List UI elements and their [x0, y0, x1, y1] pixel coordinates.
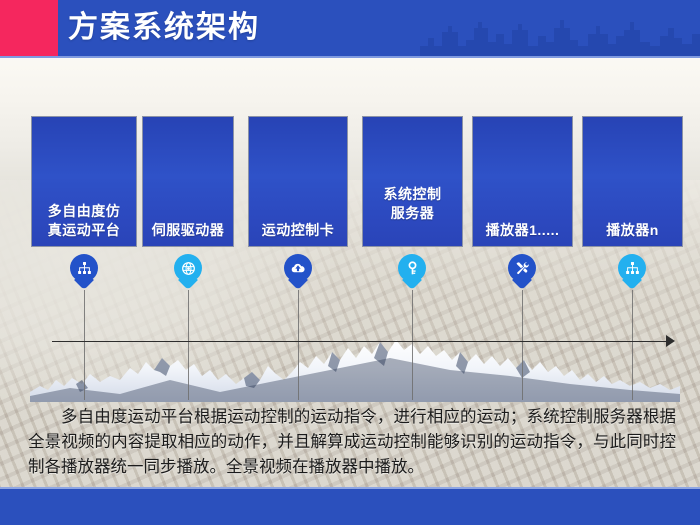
cloud-upload-icon	[284, 254, 312, 282]
caption-paragraph: 多自由度运动平台根据运动控制的运动指令，进行相应的运动；系统控制服务器根据全景视…	[28, 404, 676, 479]
node-box-2[interactable]: 伺服驱动器	[142, 116, 234, 247]
node-box-4[interactable]: 系统控制 服务器	[362, 116, 463, 247]
map-pin-2[interactable]	[174, 254, 202, 290]
globe-icon	[174, 254, 202, 282]
node-label-4: 系统控制 服务器	[384, 185, 442, 223]
node-box-6[interactable]: 播放器n	[582, 116, 683, 247]
tools-icon	[508, 254, 536, 282]
map-pin-3[interactable]	[284, 254, 312, 290]
map-pin-1[interactable]	[70, 254, 98, 290]
footer-bar	[0, 489, 700, 525]
map-pin-5[interactable]	[508, 254, 536, 290]
map-pin-4[interactable]	[398, 254, 426, 290]
key-icon	[398, 254, 426, 282]
node-label-1: 多自由度仿 真运动平台	[48, 202, 121, 240]
node-label-3: 运动控制卡	[262, 221, 335, 240]
slide: 方案系统架构 多自由度仿 真运动平台 伺服驱动	[0, 0, 700, 525]
node-box-3[interactable]: 运动控制卡	[248, 116, 348, 247]
node-label-5: 播放器1.....	[486, 221, 560, 240]
sitemap-icon	[70, 254, 98, 282]
node-box-5[interactable]: 播放器1.....	[472, 116, 573, 247]
sitemap-icon	[618, 254, 646, 282]
node-box-1[interactable]: 多自由度仿 真运动平台	[31, 116, 137, 247]
node-label-2: 伺服驱动器	[152, 221, 225, 240]
node-label-6: 播放器n	[606, 221, 659, 240]
map-pin-6[interactable]	[618, 254, 646, 290]
